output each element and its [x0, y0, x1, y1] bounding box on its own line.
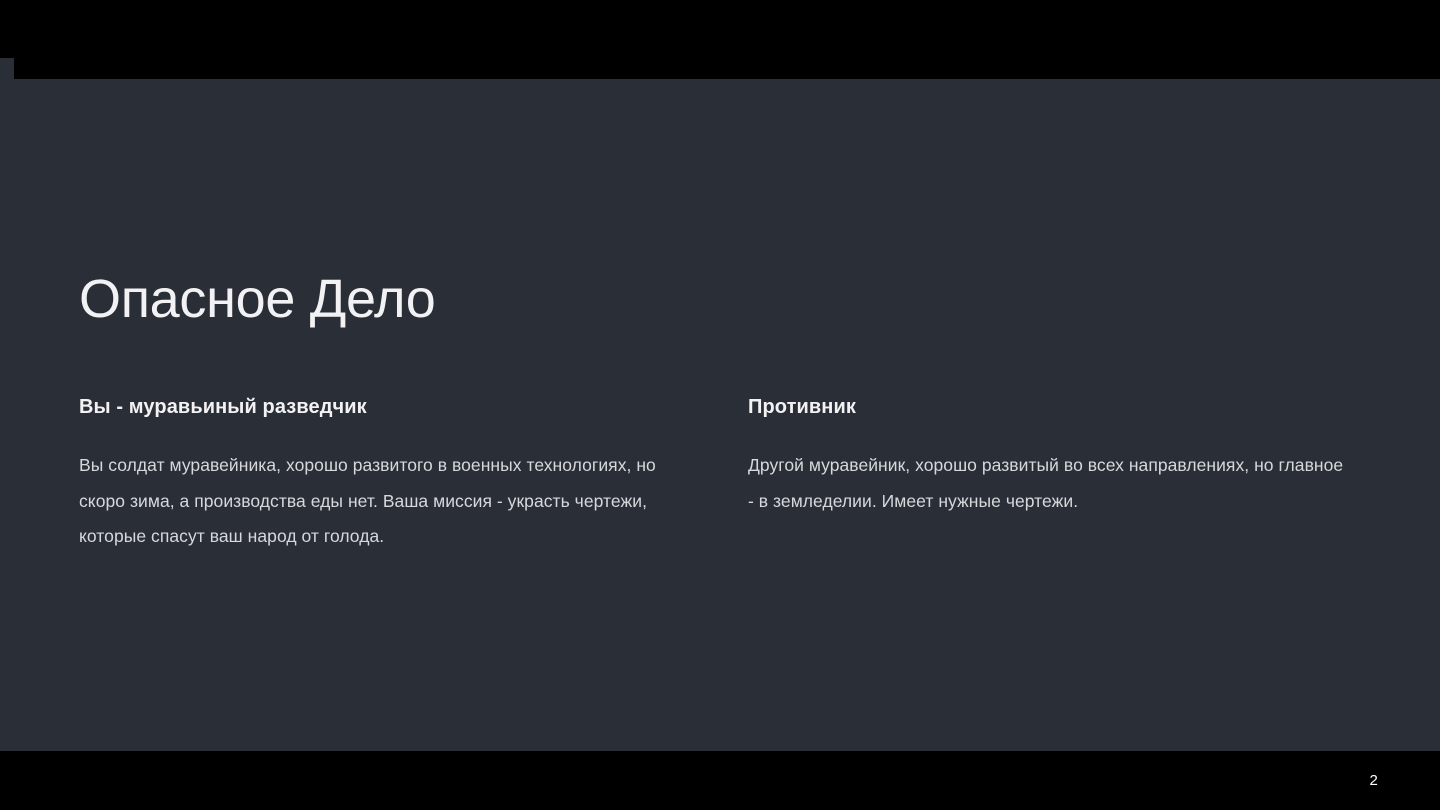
slide-column-right: Противник Другой муравейник, хорошо разв…: [748, 394, 1348, 519]
viewer-top-letterbox-extension: [14, 58, 1440, 79]
slide-column-left: Вы - муравьиный разведчик Вы солдат мура…: [79, 394, 704, 555]
viewer-top-letterbox: [0, 0, 1440, 58]
viewer-bottom-letterbox: [0, 751, 1440, 810]
page-number: 2: [1369, 770, 1378, 792]
slide-title: Опасное Дело: [79, 267, 436, 331]
slide-edge-sliver: [0, 58, 14, 79]
column-heading-right: Противник: [748, 394, 1348, 420]
slide-viewer: Опасное Дело Вы - муравьиный разведчик В…: [0, 0, 1440, 810]
slide-canvas[interactable]: Опасное Дело Вы - муравьиный разведчик В…: [0, 79, 1440, 751]
column-body-left: Вы солдат муравейника, хорошо развитого …: [79, 448, 704, 555]
column-body-right: Другой муравейник, хорошо развитый во вс…: [748, 448, 1348, 519]
column-heading-left: Вы - муравьиный разведчик: [79, 394, 704, 420]
